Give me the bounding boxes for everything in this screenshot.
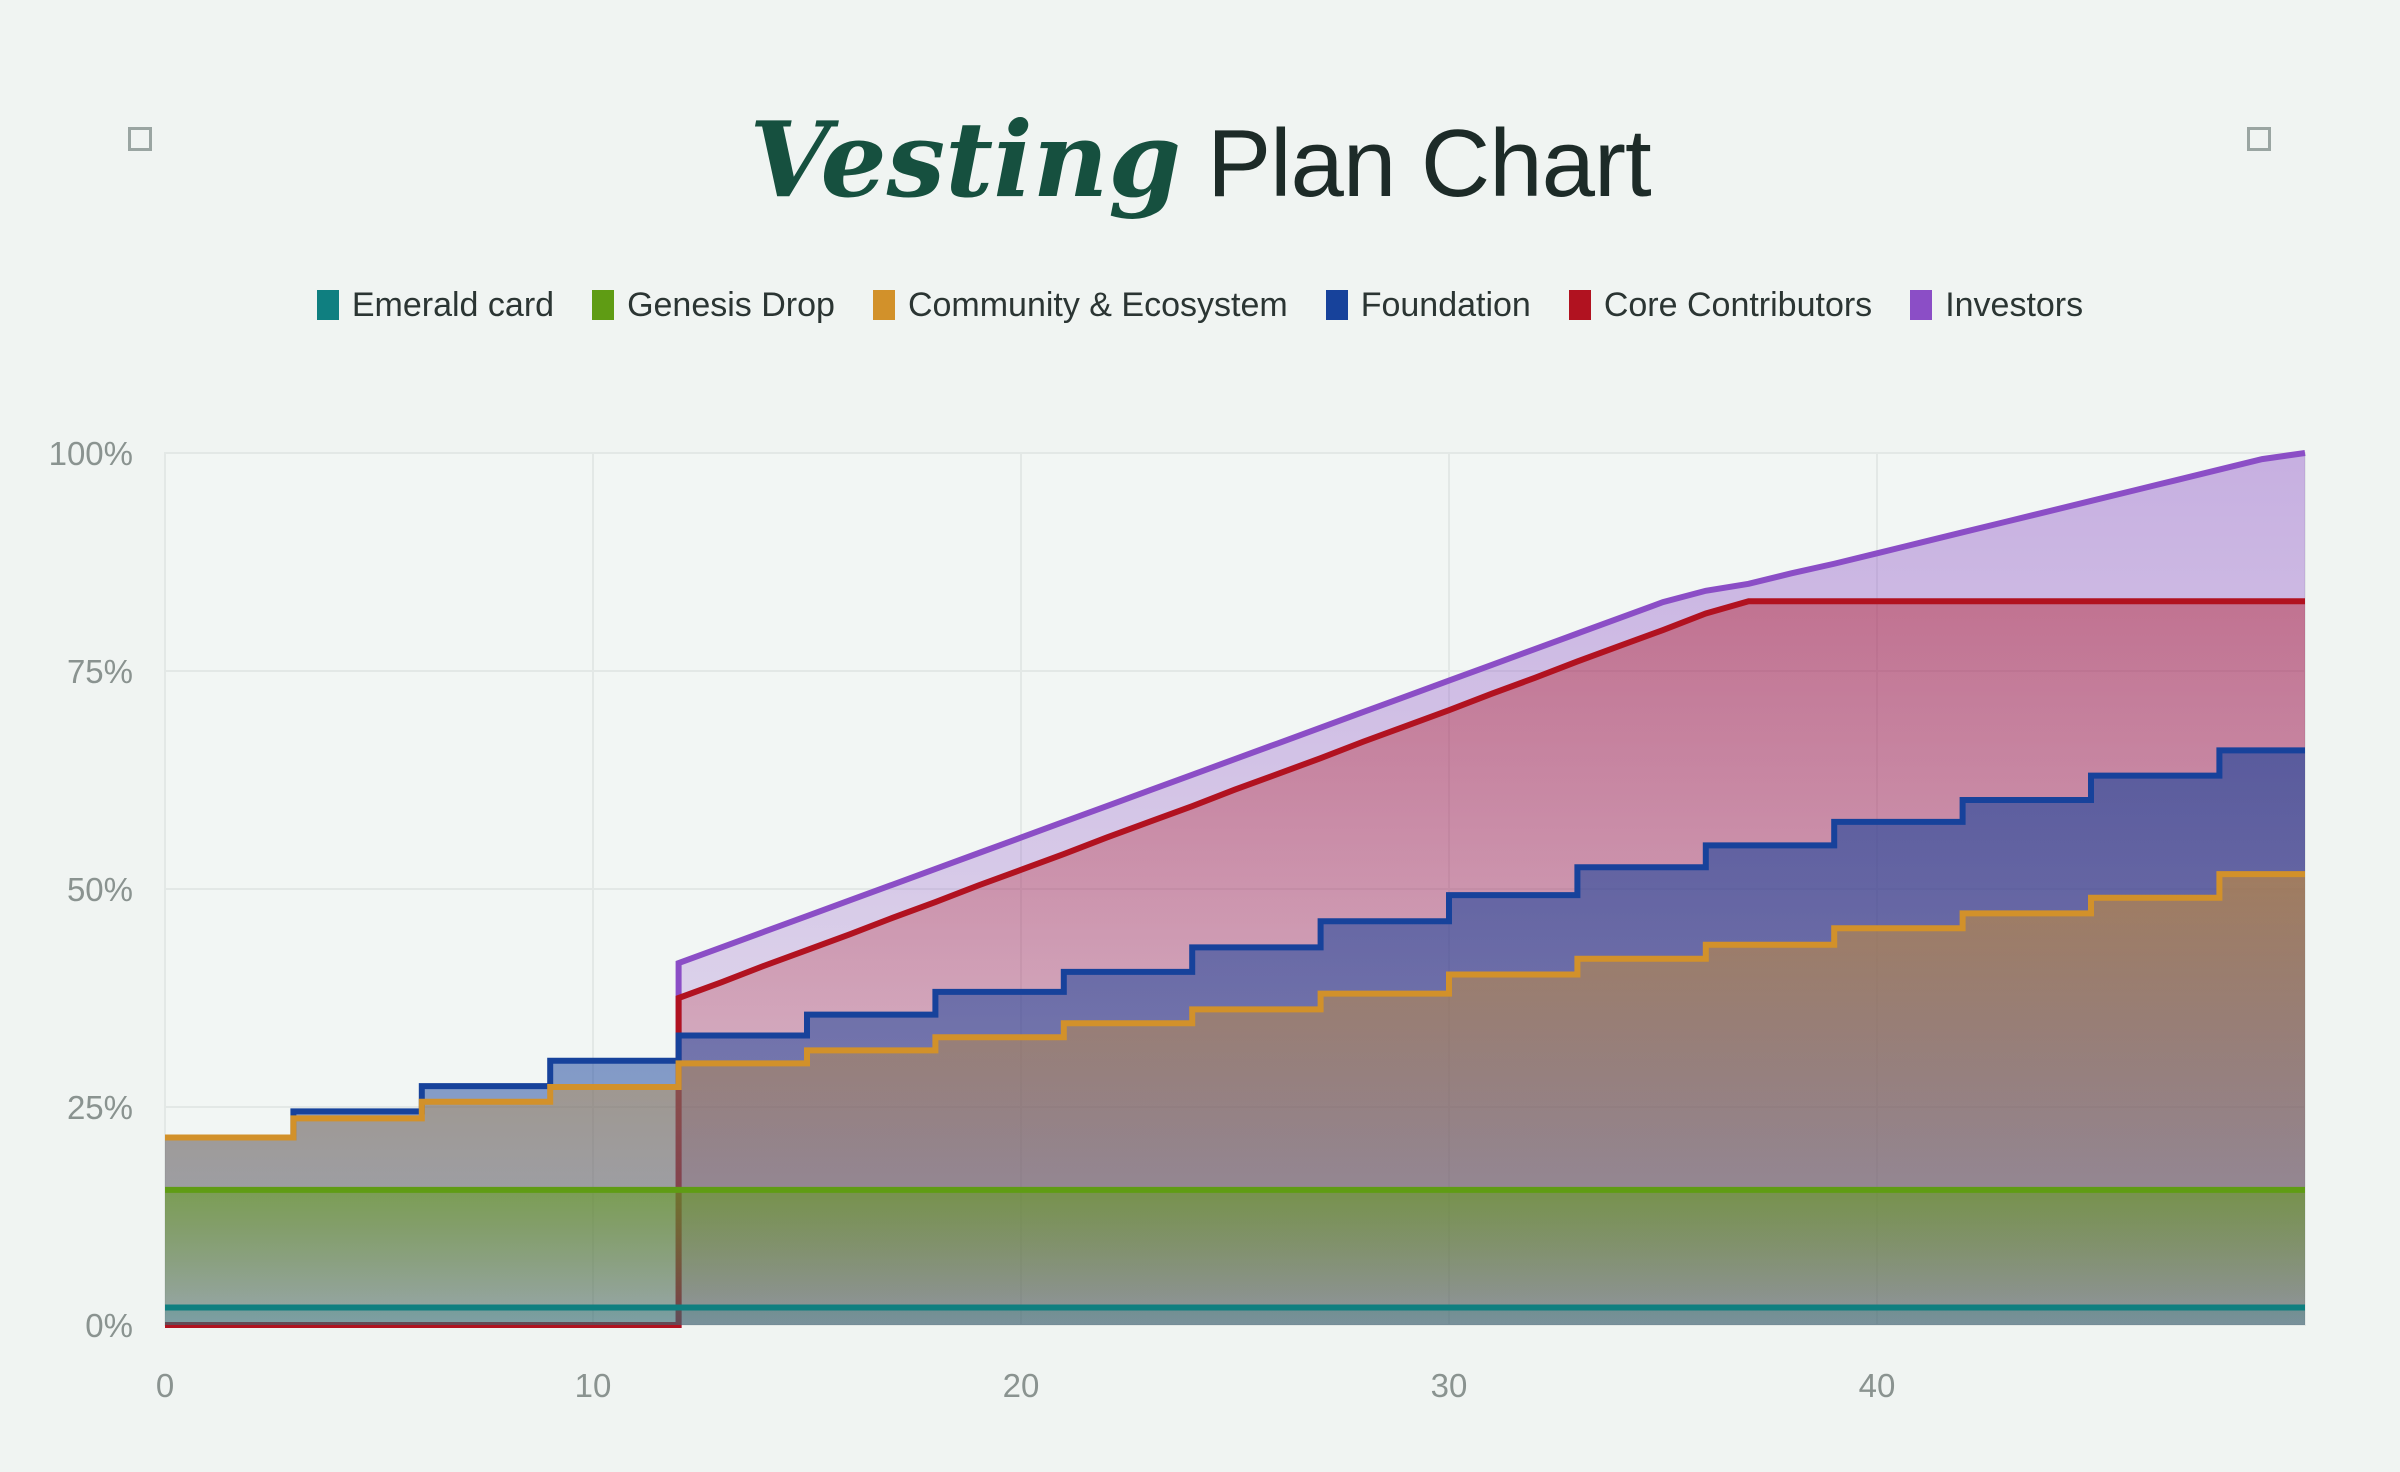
y-axis-tick-label: 100% [49, 435, 133, 472]
series-emerald-card [165, 1308, 2305, 1325]
x-axis-tick-label: 40 [1859, 1367, 1896, 1404]
y-axis-tick-label: 25% [67, 1089, 133, 1126]
x-axis-tick-label: 0 [156, 1367, 174, 1404]
x-axis-tick-label: 30 [1431, 1367, 1468, 1404]
x-axis-tick-label: 10 [575, 1367, 612, 1404]
y-axis-tick-label: 50% [67, 871, 133, 908]
chart-page: VestingPlan Chart Emerald cardGenesis Dr… [0, 0, 2400, 1472]
x-axis-tick-label: 20 [1003, 1367, 1040, 1404]
vesting-area-chart: 0%25%50%75%100%010203040 [0, 0, 2400, 1472]
y-axis-tick-label: 0% [85, 1307, 133, 1344]
chart-area: 0%25%50%75%100%010203040 [0, 0, 2400, 1472]
y-axis-tick-label: 75% [67, 653, 133, 690]
